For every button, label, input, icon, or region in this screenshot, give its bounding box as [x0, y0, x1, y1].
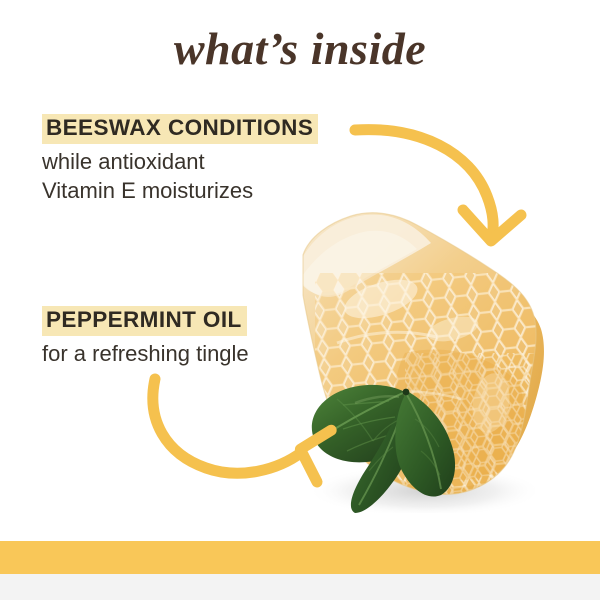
footer-base — [0, 574, 600, 600]
honeycomb-photo — [285, 203, 555, 513]
honeycomb-illustration — [285, 203, 555, 513]
footer-accent-bar — [0, 541, 600, 574]
page-title: what’s inside — [0, 22, 600, 75]
benefit-subline-peppermint-line1: for a refreshing tingle — [42, 339, 249, 368]
benefit-block-peppermint: PEPPERMINT OIL for a refreshing tingle — [42, 306, 249, 368]
benefit-headline-beeswax: BEESWAX CONDITIONS — [42, 114, 318, 144]
benefit-subline-beeswax-line1: while antioxidant — [42, 147, 318, 176]
benefit-subline-beeswax-line2: Vitamin E moisturizes — [42, 176, 318, 205]
benefit-block-beeswax: BEESWAX CONDITIONS while antioxidant Vit… — [42, 114, 318, 205]
product-ingredients-infographic: what’s inside BEESWAX CONDITIONS while a… — [0, 0, 600, 600]
benefit-headline-peppermint: PEPPERMINT OIL — [42, 306, 247, 336]
